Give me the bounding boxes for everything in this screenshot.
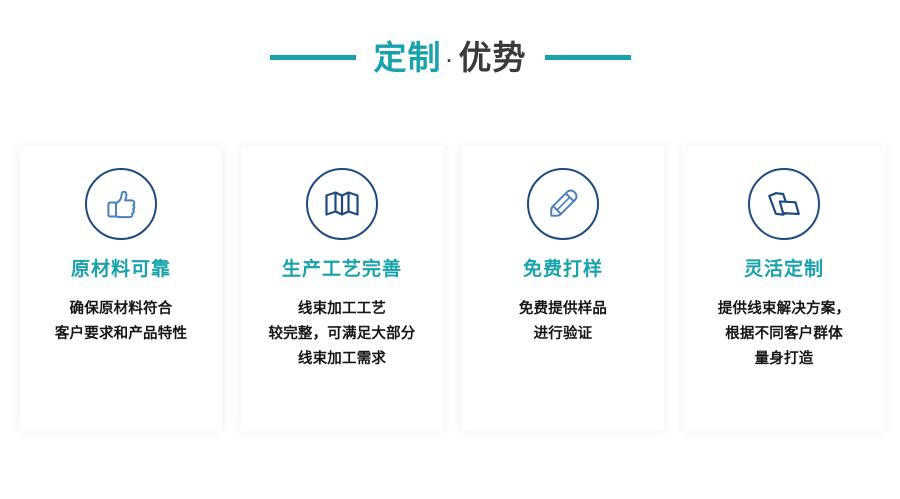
feature-card-title: 免费打样	[523, 260, 603, 279]
feature-card[interactable]: 生产工艺完善 线束加工工艺 较完整，可满足大部分 线束加工需求	[241, 146, 443, 431]
feature-card-title: 原材料可靠	[71, 260, 171, 279]
page-title-main: 优势	[459, 41, 527, 74]
feature-card-description: 提供线束解决方案， 根据不同客户群体 量身打造	[710, 297, 858, 372]
folded-map-icon	[306, 168, 378, 240]
feature-card-description: 免费提供样品 进行验证	[511, 297, 615, 347]
feature-cards-row: 原材料可靠 确保原材料符合 客户要求和产品特性 生产工艺完善 线束加工工艺 较完…	[20, 146, 885, 431]
pencil-icon	[527, 168, 599, 240]
decorative-rule-right-icon	[545, 55, 631, 60]
page-title: 定制 · 优势	[374, 41, 527, 74]
feature-card-description: 确保原材料符合 客户要求和产品特性	[47, 297, 195, 347]
feature-card[interactable]: 灵活定制 提供线束解决方案， 根据不同客户群体 量身打造	[683, 146, 885, 431]
page-title-accent: 定制	[374, 41, 442, 74]
feature-card[interactable]: 原材料可靠 确保原材料符合 客户要求和产品特性	[20, 146, 222, 431]
decorative-rule-left-icon	[270, 55, 356, 60]
section-header: 定制 · 优势	[0, 30, 900, 85]
page-title-separator: ·	[442, 52, 459, 70]
feature-card-title: 生产工艺完善	[282, 260, 402, 279]
feature-card-title: 灵活定制	[744, 260, 824, 279]
feature-card-description: 线束加工工艺 较完整，可满足大部分 线束加工需求	[261, 297, 424, 372]
thumbs-up-icon	[85, 168, 157, 240]
stacked-cards-icon	[748, 168, 820, 240]
feature-card[interactable]: 免费打样 免费提供样品 进行验证	[462, 146, 664, 431]
